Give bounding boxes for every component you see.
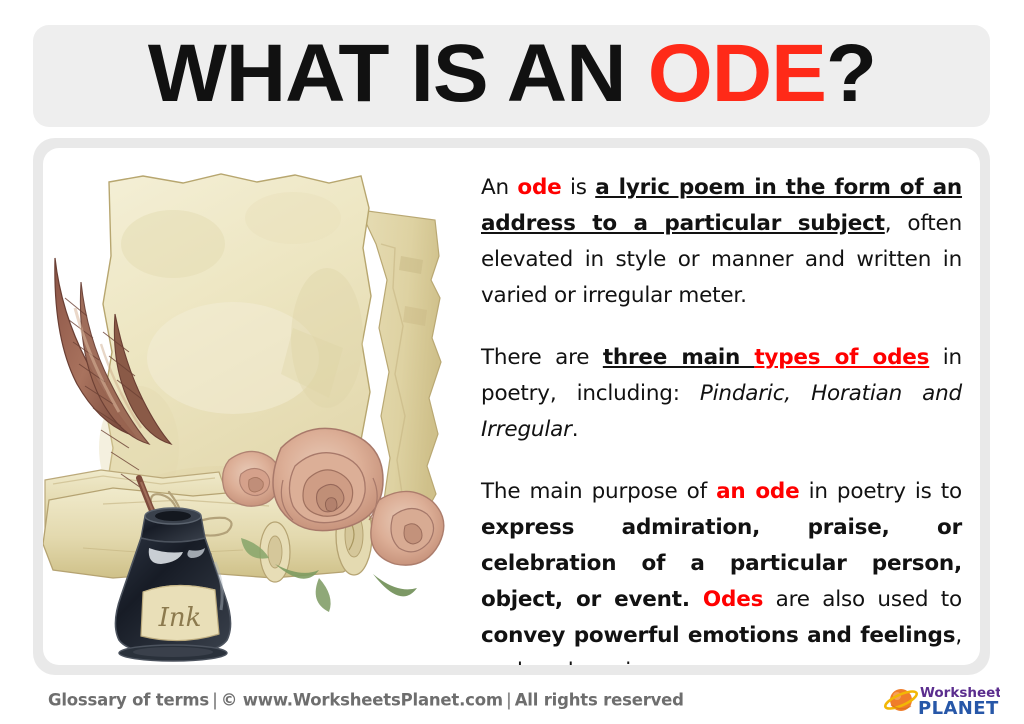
p1-keyword-ode: ode (517, 175, 561, 200)
rose-right-bud (371, 491, 444, 565)
illustration-pane: Ink (43, 148, 461, 665)
page-title-plain-suffix: ? (825, 28, 875, 119)
p2-types-of-odes: types of odes (754, 345, 929, 370)
ink-bottle-label: Ink (158, 603, 202, 633)
footer-credit-line: Glossary of terms|© www.WorksheetsPlanet… (48, 690, 684, 709)
footer-separator-2: | (503, 690, 515, 709)
p1-seg1: An (481, 175, 517, 200)
copyright-icon: © (221, 690, 237, 709)
footer: Glossary of terms|© www.WorksheetsPlanet… (0, 675, 1024, 724)
p3-seg6: are also used to (763, 587, 962, 612)
quill-parchment-ink-roses-illustration: Ink (43, 148, 461, 665)
paragraph-types: There are three main types of odes in po… (481, 340, 962, 448)
content-card: Ink An ode is a lyric poem in the form o… (33, 138, 990, 675)
p3-keyword-an-ode: an ode (716, 479, 799, 504)
p3-seg3: in poetry is to (799, 479, 962, 504)
page-title-plain-prefix: WHAT IS AN (147, 28, 647, 119)
p1-seg3: is (562, 175, 596, 200)
worksheets-planet-logo[interactable]: Worksheets PLANET (884, 681, 1000, 719)
rose-small-left (223, 451, 281, 506)
footer-separator-1: | (209, 690, 221, 709)
brand-logo-svg: Worksheets PLANET (884, 681, 1000, 719)
content-card-inner: Ink An ode is a lyric poem in the form o… (43, 148, 980, 665)
definition-text-pane: An ode is a lyric poem in the form of an… (461, 148, 980, 665)
footer-website-link[interactable]: www.WorksheetsPlanet.com (243, 690, 503, 709)
paragraph-definition: An ode is a lyric poem in the form of an… (481, 170, 962, 314)
logo-word-bottom: PLANET (918, 698, 999, 719)
rose-large-centre (273, 428, 383, 530)
page-title: WHAT IS AN ODE? (147, 33, 875, 115)
footer-glossary-label: Glossary of terms (48, 690, 209, 709)
p3-seg1: The main purpose of (481, 479, 716, 504)
paragraph-purpose: The main purpose of an ode in poetry is … (481, 474, 962, 665)
page-title-highlight: ODE (647, 28, 825, 119)
footer-rights-label: All rights reserved (515, 690, 684, 709)
header-banner: WHAT IS AN ODE? (33, 25, 990, 127)
p2-seg1: There are (481, 345, 603, 370)
p2-three-main: three main (603, 345, 755, 370)
p2-seg6: . (572, 417, 579, 442)
p3-keyword-odes: Odes (690, 587, 763, 612)
planet-icon (884, 688, 919, 712)
p3-emotions-phrase: convey powerful emotions and feelings (481, 623, 955, 648)
